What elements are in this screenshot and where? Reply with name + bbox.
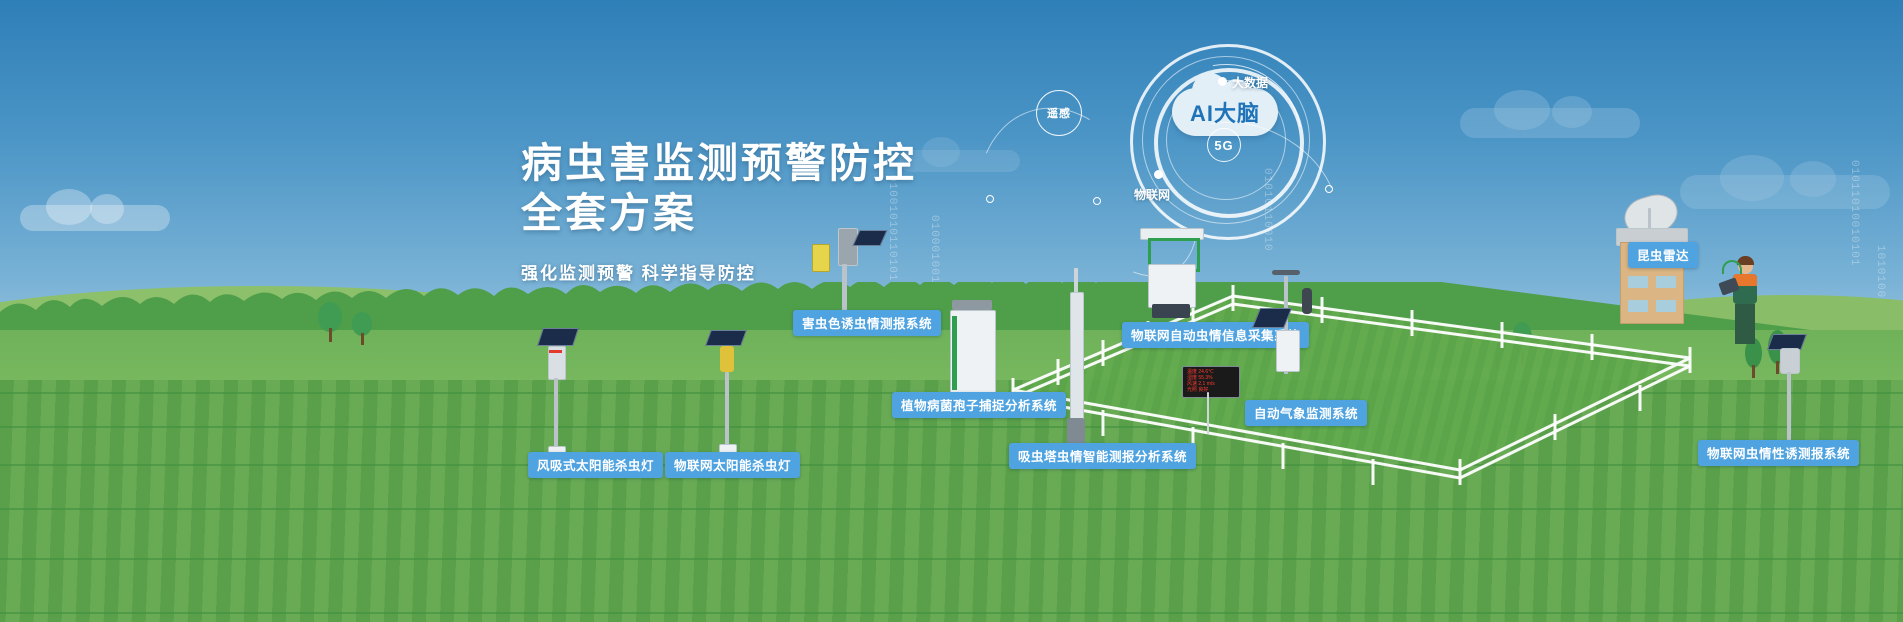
field-worker bbox=[1722, 258, 1768, 350]
radar-window bbox=[1628, 300, 1648, 312]
solar-panel-icon bbox=[537, 328, 579, 346]
led-display-board[interactable]: 温度 24.6℃ 湿度 55.3% 风速 2.1 m/s 光照 良好 bbox=[1182, 366, 1234, 436]
label-automatic-weather-monitoring-system[interactable]: 自动气象监测系统 bbox=[1245, 400, 1367, 426]
device-iot-solar-insect-lamp[interactable] bbox=[706, 330, 762, 456]
device-plant-pathogen-spore-capture-analysis-system[interactable] bbox=[948, 300, 996, 398]
radar-window bbox=[1656, 276, 1676, 288]
label-pest-color-trap-forecast-system[interactable]: 害虫色诱虫情测报系统 bbox=[793, 310, 941, 336]
trap-card bbox=[812, 244, 830, 272]
label-suction-tower-pest-intelligent-forecast-analysis-system[interactable]: 吸虫塔虫情智能测报分析系统 bbox=[1009, 443, 1196, 469]
collector-body bbox=[1148, 264, 1196, 308]
cabinet-top bbox=[952, 300, 992, 310]
label-plant-pathogen-spore-capture-analysis-system[interactable]: 植物病菌孢子捕捉分析系统 bbox=[892, 392, 1066, 418]
device-iot-pest-pheromone-trap-forecast-system[interactable] bbox=[1768, 334, 1824, 456]
weather-controller-box bbox=[1276, 330, 1300, 372]
cabinet-stripe bbox=[952, 316, 957, 390]
device-automatic-weather-monitoring-system[interactable] bbox=[1262, 264, 1332, 394]
device-suction-tower-pest-intelligent-forecast-analysis-system[interactable] bbox=[1062, 268, 1092, 458]
collector-base bbox=[1152, 304, 1190, 318]
lamp-indicator bbox=[549, 350, 562, 353]
trap-head bbox=[1780, 348, 1800, 374]
led-board-post bbox=[1207, 392, 1209, 434]
radar-window bbox=[1628, 276, 1648, 288]
solar-panel-icon bbox=[705, 330, 747, 346]
lamp-cage bbox=[720, 346, 734, 372]
device-iot-automatic-pest-information-collection-system[interactable] bbox=[1138, 228, 1208, 320]
label-iot-pest-pheromone-trap-forecast-system[interactable]: 物联网虫情性诱测报系统 bbox=[1698, 440, 1859, 466]
device-wind-suction-solar-insect-lamp[interactable] bbox=[536, 328, 596, 458]
lamp-pole bbox=[554, 378, 558, 450]
solar-panel-icon bbox=[852, 230, 887, 246]
trap-pole bbox=[1787, 372, 1791, 450]
radiation-shield-icon bbox=[1302, 288, 1312, 314]
worker-legs bbox=[1735, 304, 1755, 344]
ai-brain-core-label: AI大脑 bbox=[1190, 96, 1260, 128]
led-screen: 温度 24.6℃ 湿度 55.3% 风速 2.1 m/s 光照 良好 bbox=[1182, 366, 1240, 398]
label-iot-solar-insect-lamp[interactable]: 物联网太阳能杀虫灯 bbox=[665, 452, 800, 478]
radar-feed-arm bbox=[1648, 208, 1651, 230]
wifi-icon bbox=[1722, 260, 1742, 274]
scene-root: 010010101101010 0100010011010 0101011001… bbox=[0, 0, 1903, 622]
controller-box bbox=[838, 228, 858, 266]
tower-tip bbox=[1074, 268, 1078, 294]
led-line: 光照 良好 bbox=[1185, 387, 1237, 393]
radar-window bbox=[1656, 300, 1676, 312]
anemometer-icon bbox=[1272, 270, 1300, 275]
label-wind-suction-solar-insect-lamp[interactable]: 风吸式太阳能杀虫灯 bbox=[528, 452, 663, 478]
label-insect-radar[interactable]: 昆虫雷达 bbox=[1628, 242, 1698, 268]
lamp-pole bbox=[725, 372, 729, 448]
